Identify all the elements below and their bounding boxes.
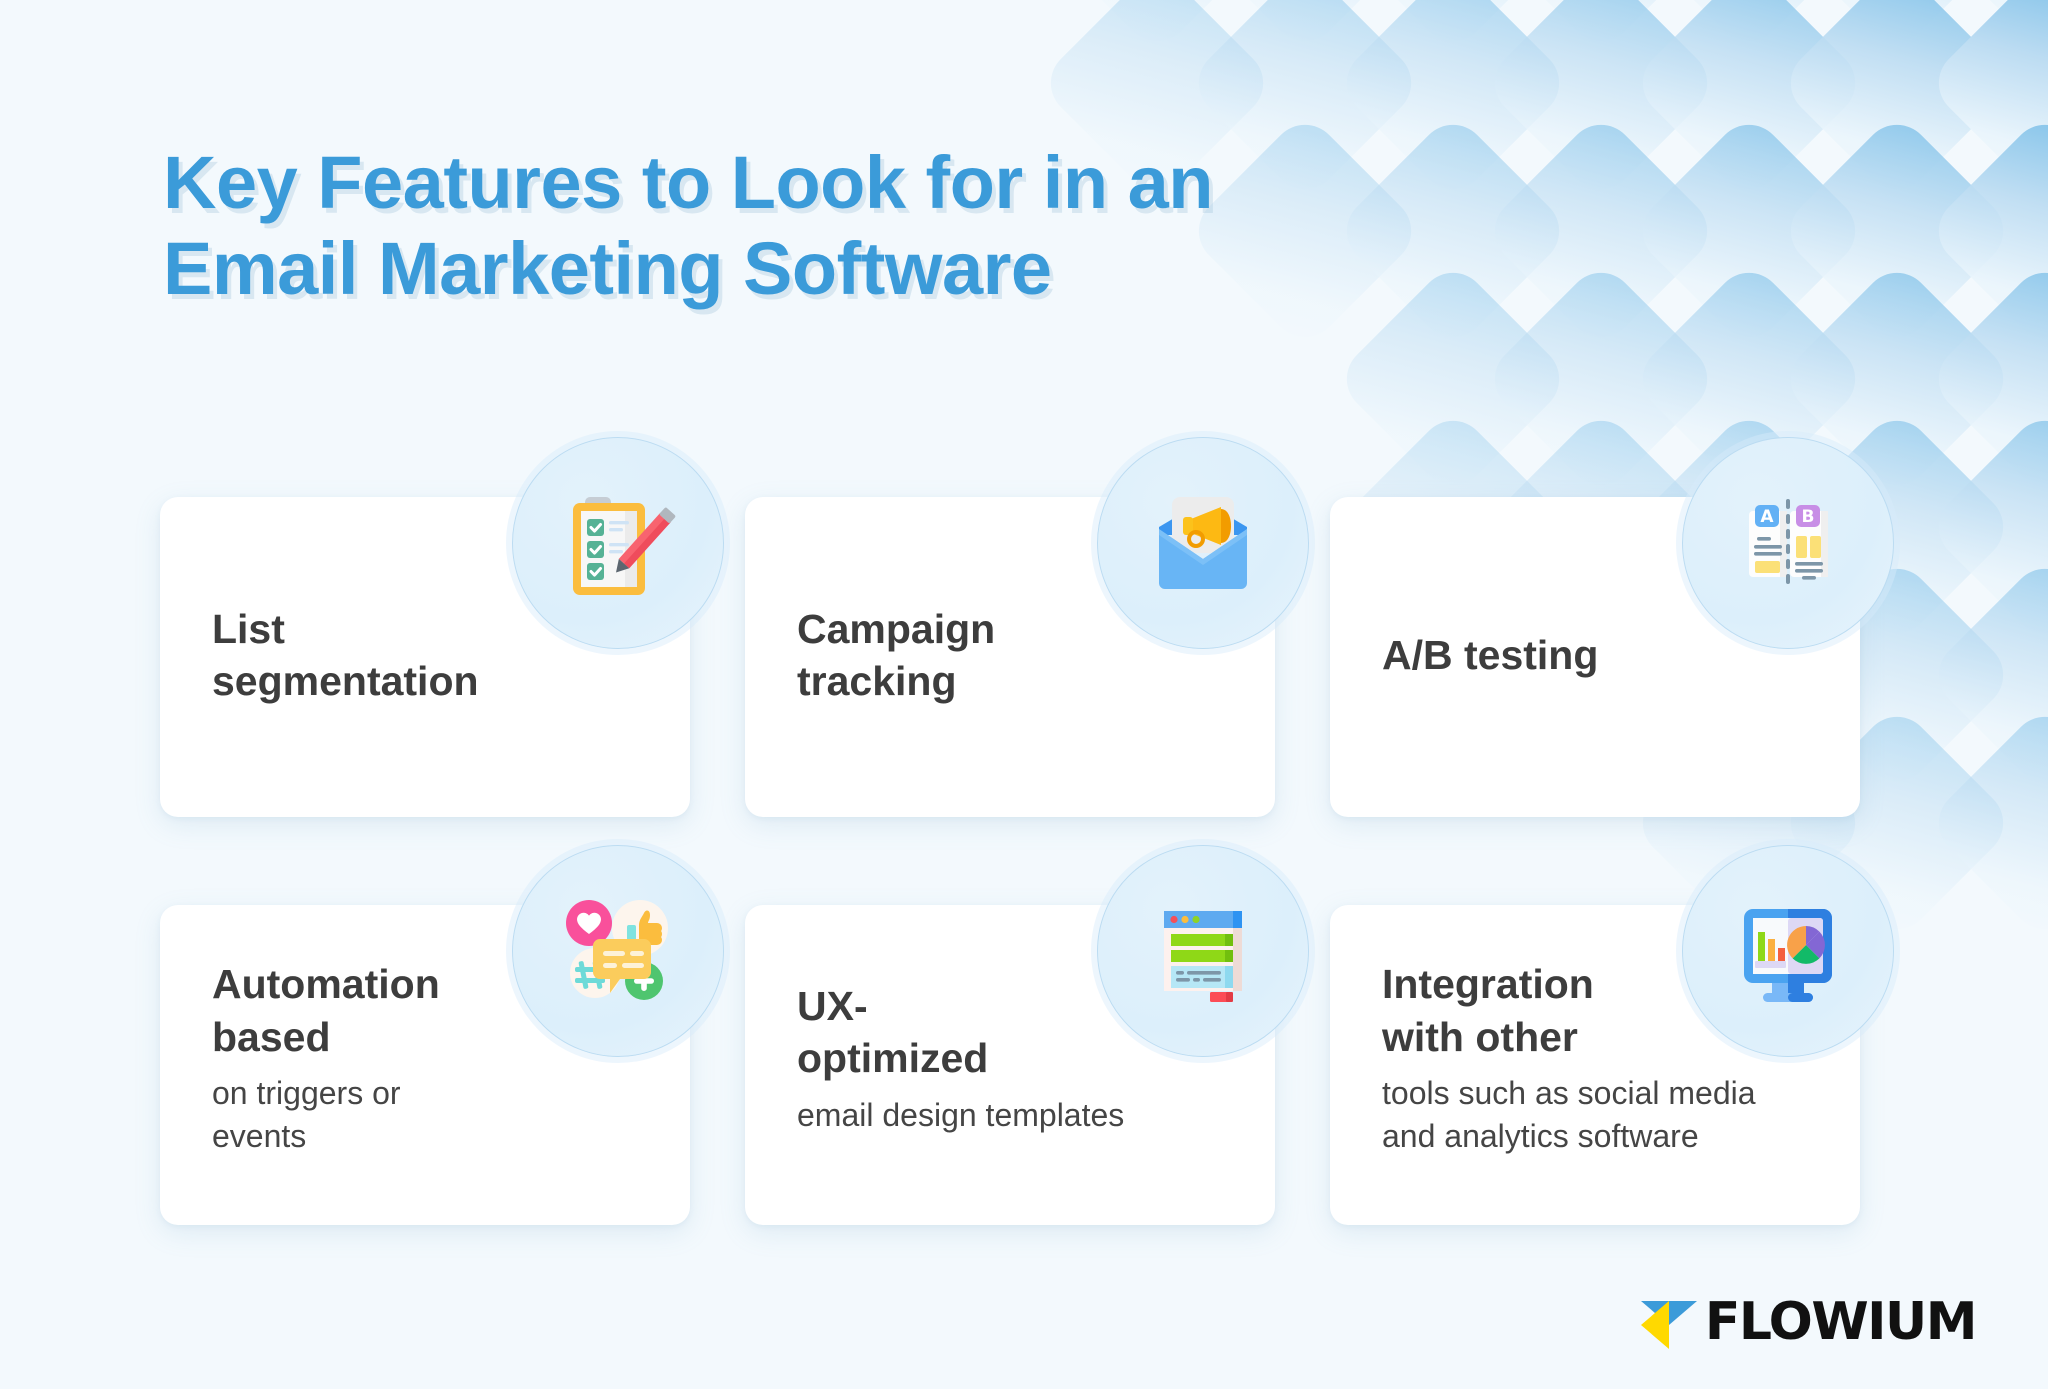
flowium-logo: FLOWIUM	[1639, 1293, 1976, 1351]
svg-text:B: B	[1802, 507, 1815, 527]
background-diamond	[1925, 0, 2048, 203]
background-diamond	[1925, 407, 2048, 647]
background-diamond	[1777, 111, 2017, 351]
flowium-logo-text: FLOWIUM	[1705, 1296, 1976, 1348]
card-title: List segmentation	[212, 603, 638, 708]
background-diamond	[1925, 703, 2048, 943]
flowium-logo-mark	[1639, 1293, 1699, 1351]
background-diamond	[1777, 0, 2017, 203]
feature-card-list-segmentation[interactable]: List segmentation	[160, 497, 690, 817]
svg-text:A: A	[1760, 507, 1774, 527]
card-title: UX- optimized	[797, 980, 1223, 1085]
background-diamond	[1777, 0, 2017, 55]
background-diamond	[1629, 0, 1869, 203]
feature-card-campaign-tracking[interactable]: Campaign tracking	[745, 497, 1275, 817]
card-title: Integration with other	[1382, 958, 1808, 1063]
background-diamond	[1925, 259, 2048, 499]
card-subtitle: on triggers or events	[212, 1072, 638, 1157]
background-diamond	[1481, 0, 1721, 55]
feature-card-automation[interactable]: Automation based on triggers or events	[160, 905, 690, 1225]
background-diamond	[1037, 0, 1277, 55]
card-subtitle: email design templates	[797, 1094, 1223, 1137]
card-text-block: Integration with other tools such as soc…	[1382, 958, 1808, 1157]
card-title: Automation based	[212, 958, 638, 1063]
background-diamond	[1925, 111, 2048, 351]
card-title: A/B testing	[1382, 629, 1808, 681]
feature-card-ab-testing[interactable]: A B A/B testing	[1330, 497, 1860, 817]
background-diamond	[1925, 555, 2048, 795]
card-text-block: UX- optimized email design templates	[797, 980, 1223, 1136]
feature-card-grid: List segmentation Campaign tracking	[160, 497, 1860, 1225]
card-text-block: Campaign tracking	[797, 603, 1223, 708]
background-diamond	[1925, 0, 2048, 55]
background-diamond	[1629, 0, 1869, 55]
card-text-block: A/B testing	[1382, 629, 1808, 681]
feature-card-ux-optimized[interactable]: UX- optimized email design templates	[745, 905, 1275, 1225]
ab-test-cards-icon: A B	[1682, 437, 1894, 649]
card-subtitle: tools such as social media and analytics…	[1382, 1072, 1808, 1157]
feature-card-integration[interactable]: Integration with other tools such as soc…	[1330, 905, 1860, 1225]
card-title: Campaign tracking	[797, 603, 1223, 708]
page-title: Key Features to Look for in an Email Mar…	[163, 140, 1643, 312]
background-diamond	[1185, 0, 1425, 55]
card-text-block: List segmentation	[212, 603, 638, 708]
background-diamond	[1629, 111, 1869, 351]
background-diamond	[1333, 0, 1573, 55]
card-text-block: Automation based on triggers or events	[212, 958, 638, 1157]
